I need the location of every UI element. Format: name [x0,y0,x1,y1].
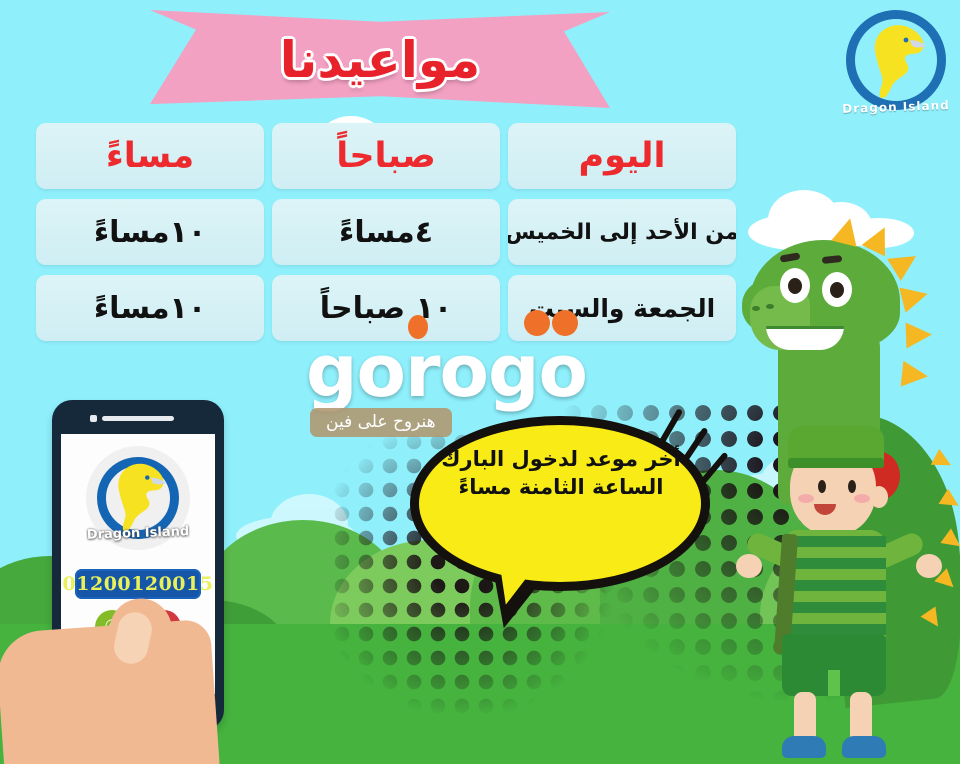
schedule-cell-evening: ١٠مساءً [36,275,264,341]
schedule-cell-day: من الأحد إلى الخميس [508,199,736,265]
phone-camera [90,415,97,422]
hand-holding-phone [0,568,236,764]
speech-bubble-tail-fill [490,541,550,608]
schedule-header-row: اليوم صباحاً مساءً [36,123,736,189]
bubble-line-1: أخر موعد لدخول البارك [420,446,702,474]
page-title: مواعيدنا [150,20,610,100]
schedule-header-evening-label: مساءً [106,136,194,176]
boy-shoe-left [782,736,826,758]
speech-bubble-body [410,416,710,591]
boy-shoe-right [842,736,886,758]
boy-hand-right [916,554,942,578]
phone-speaker [102,416,174,421]
schedule-header-morning: صباحاً [272,123,500,189]
schedule-cell-morning: ٤مساءً [272,199,500,265]
watermark-tagline: هنروح على فين [310,408,452,437]
schedule-cell-evening: ١٠مساءً [36,199,264,265]
boy-eye-right [848,480,856,493]
watermark: gorogo هنروح على فين [306,338,650,437]
schedule-header-morning-label: صباحاً [336,136,436,176]
phone-in-hand: Dragon Island 01200120015 ✆ ✆ [52,400,224,764]
watermark-brand: gorogo [306,338,650,404]
bubble-line-2: الساعة الثامنة مساءً [420,474,702,502]
boy-hand-left [736,554,762,578]
schedule-table: اليوم صباحاً مساءً من الأحد إلى الخميس ٤… [36,123,736,351]
speech-bubble-text: أخر موعد لدخول البارك الساعة الثامنة مسا… [420,446,702,501]
schedule-header-day: اليوم [508,123,736,189]
schedule-header-evening: مساءً [36,123,264,189]
schedule-row: من الأحد إلى الخميس ٤مساءً ١٠مساءً [36,199,736,265]
schedule-header-day-label: اليوم [578,136,665,176]
poster-canvas: مواعيدنا Dragon Island [0,0,960,764]
boy-eye-left [818,480,826,493]
brand-logo-top-right: Dragon Island [840,6,952,118]
dinosaur-mouth [766,326,844,350]
boy-character [742,430,942,764]
